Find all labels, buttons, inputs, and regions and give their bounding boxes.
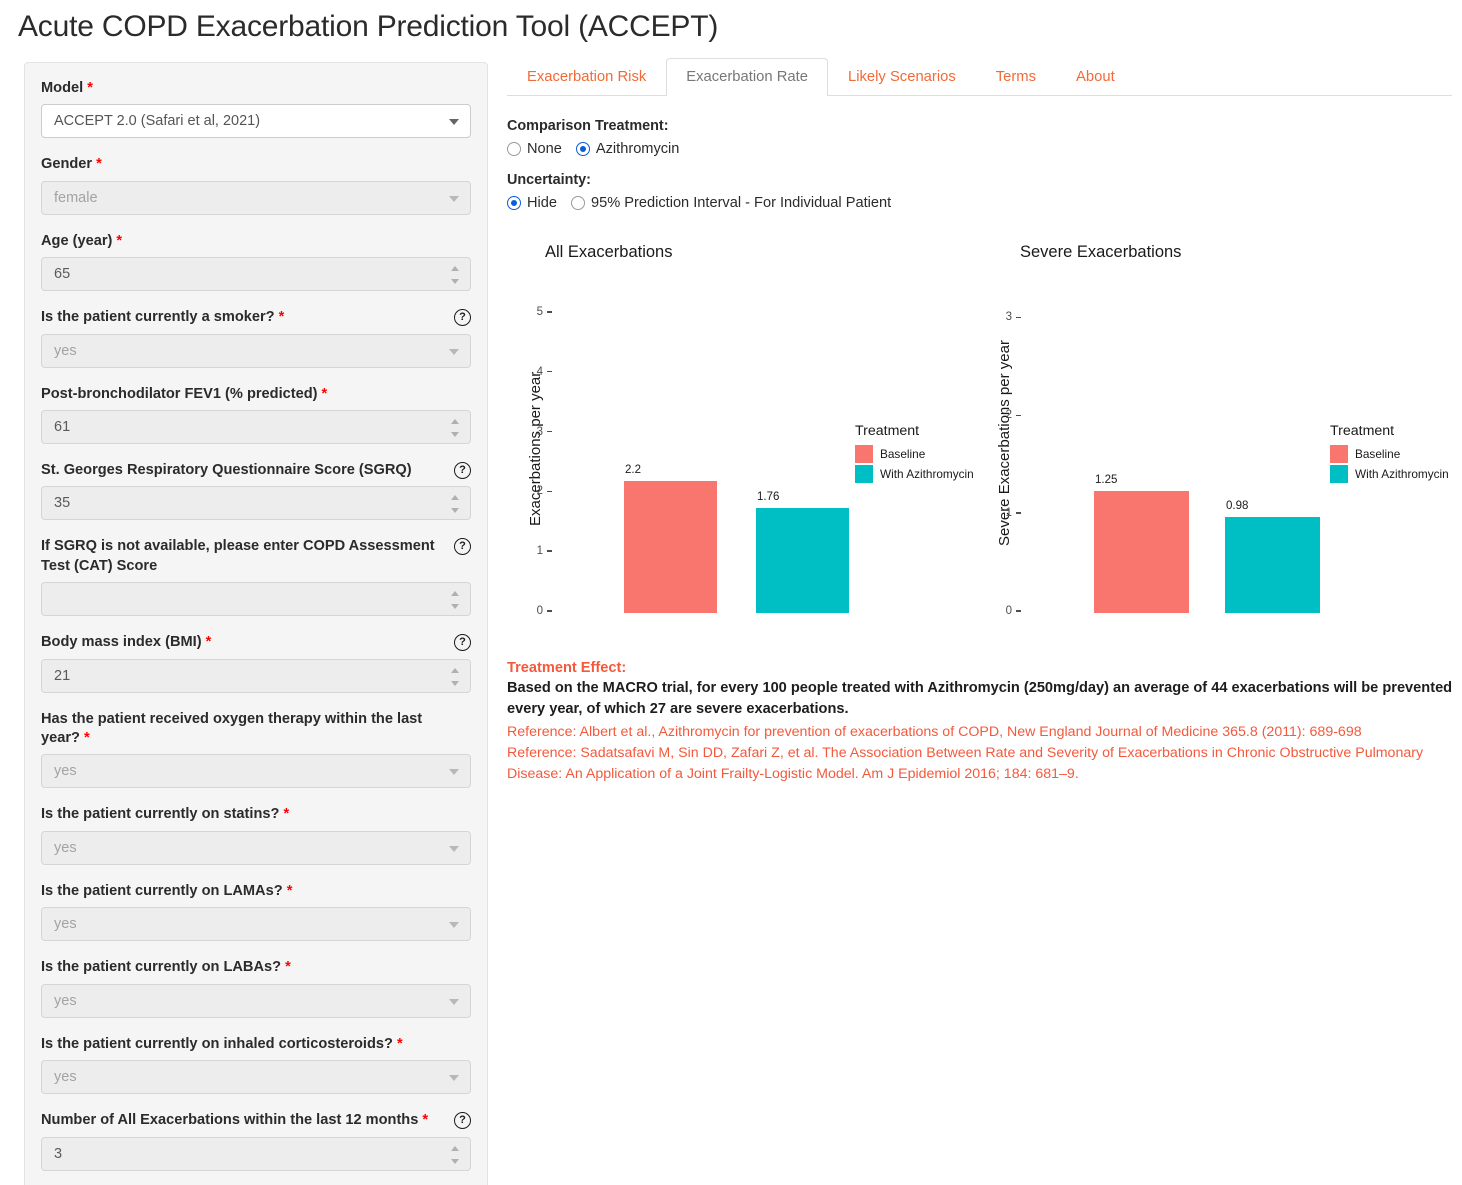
- y-axis-tick: 3: [994, 311, 1021, 323]
- y-axis-tick: 1: [525, 545, 552, 557]
- tab-likely-scenarios[interactable]: Likely Scenarios: [828, 58, 976, 96]
- chart-legend: TreatmentBaselineWith Azithromycin: [1330, 423, 1449, 485]
- form-group-post-bronchodilator-fev1-predicted: Post-bronchodilator FEV1 (% predicted) *…: [41, 385, 471, 444]
- required-asterisk: *: [281, 959, 291, 975]
- treatment-effect-heading: Treatment Effect:: [507, 660, 1457, 676]
- field-value: yes: [54, 343, 77, 359]
- select-is-the-patient-currently-on-lamas[interactable]: yes: [41, 907, 471, 941]
- radio-label: 95% Prediction Interval - For Individual…: [591, 195, 891, 211]
- radio-hide[interactable]: Hide: [507, 195, 557, 211]
- chevron-down-icon: [449, 349, 459, 355]
- bar-baseline: [1094, 491, 1189, 613]
- y-axis-tick-label: 0: [525, 605, 543, 617]
- number-input-st-georges-respiratory-questionnaire-score-sgr[interactable]: 35: [41, 486, 471, 520]
- input-form-panel: Model *ACCEPT 2.0 (Safari et al, 2021)Ge…: [24, 62, 488, 1185]
- form-group-is-the-patient-currently-on-lamas: Is the patient currently on LAMAs? *yes: [41, 882, 471, 941]
- stepper-up-icon[interactable]: [451, 419, 459, 424]
- bar-with-azithromycin: [1225, 517, 1320, 613]
- field-value: 65: [54, 266, 70, 282]
- select-has-the-patient-received-oxygen-therapy-within[interactable]: yes: [41, 754, 471, 788]
- y-axis-tick-label: 1: [994, 507, 1012, 519]
- y-axis-tick-label: 1: [525, 545, 543, 557]
- required-asterisk: *: [393, 1036, 403, 1052]
- legend-label: Baseline: [1355, 447, 1400, 461]
- stepper-down-icon[interactable]: [451, 681, 459, 686]
- form-group-is-the-patient-currently-on-labas: Is the patient currently on LABAs? *yes: [41, 958, 471, 1017]
- radio-unselected-icon[interactable]: [571, 196, 585, 210]
- y-axis-tick-label: 3: [525, 426, 543, 438]
- y-axis-tick-mark: [547, 550, 552, 551]
- field-label: Is the patient currently on LABAs? *: [41, 958, 471, 977]
- comparison-treatment-radio-group: NoneAzithromycin: [507, 141, 1452, 157]
- stepper-up-icon[interactable]: [451, 495, 459, 500]
- legend-item-baseline: Baseline: [855, 445, 974, 463]
- y-axis-tick: 2: [994, 409, 1021, 421]
- spinner-stepper[interactable]: [450, 495, 460, 513]
- y-axis-tick-mark: [547, 491, 552, 492]
- select-is-the-patient-currently-on-statins[interactable]: yes: [41, 831, 471, 865]
- radio-unselected-icon[interactable]: [507, 142, 521, 156]
- y-axis-tick-label: 2: [994, 409, 1012, 421]
- select-model[interactable]: ACCEPT 2.0 (Safari et al, 2021): [41, 104, 471, 138]
- chart-all-exacerbations: All ExacerbationsExacerbations per year0…: [507, 236, 982, 636]
- radio-label: None: [527, 141, 562, 157]
- spinner-stepper[interactable]: [450, 591, 460, 609]
- required-asterisk: *: [83, 80, 93, 96]
- stepper-down-icon[interactable]: [451, 508, 459, 513]
- spinner-stepper[interactable]: [450, 1146, 460, 1164]
- field-value: female: [54, 190, 98, 206]
- bar-value-label: 1.76: [757, 491, 779, 503]
- field-label: Is the patient currently on LAMAs? *: [41, 882, 471, 901]
- field-label: Post-bronchodilator FEV1 (% predicted) *: [41, 385, 471, 404]
- charts-container: All ExacerbationsExacerbations per year0…: [507, 236, 1457, 636]
- y-axis-tick: 2: [525, 485, 552, 497]
- y-axis-tick-mark: [1016, 610, 1021, 611]
- select-gender[interactable]: female: [41, 181, 471, 215]
- select-is-the-patient-currently-on-labas[interactable]: yes: [41, 984, 471, 1018]
- plot-options: Comparison Treatment: NoneAzithromycin U…: [507, 118, 1452, 226]
- field-value: yes: [54, 763, 77, 779]
- bar-value-label: 1.25: [1095, 474, 1117, 486]
- reference-albert: Reference: Albert et al., Azithromycin f…: [507, 722, 1457, 743]
- field-value: 21: [54, 668, 70, 684]
- chart-severe-exacerbations: Severe ExacerbationsSevere Exacerbations…: [982, 236, 1457, 636]
- form-group-gender: Gender *female: [41, 155, 471, 214]
- tab-about[interactable]: About: [1056, 58, 1135, 96]
- field-value: 3: [54, 1146, 62, 1162]
- number-input-body-mass-index-bmi[interactable]: 21: [41, 659, 471, 693]
- stepper-down-icon[interactable]: [451, 1159, 459, 1164]
- chevron-down-icon: [449, 769, 459, 775]
- field-label: St. Georges Respiratory Questionnaire Sc…: [41, 461, 471, 480]
- chevron-down-icon: [449, 119, 459, 125]
- form-group-is-the-patient-currently-on-statins: Is the patient currently on statins? *ye…: [41, 805, 471, 864]
- chevron-down-icon: [449, 196, 459, 202]
- stepper-up-icon[interactable]: [451, 266, 459, 271]
- required-asterisk: *: [418, 1112, 428, 1128]
- y-axis-tick-label: 2: [525, 485, 543, 497]
- y-axis-tick-mark: [547, 610, 552, 611]
- required-asterisk: *: [92, 156, 102, 172]
- legend-swatch: [1330, 445, 1348, 463]
- page-title: Acute COPD Exacerbation Prediction Tool …: [18, 10, 718, 44]
- field-value: yes: [54, 840, 77, 856]
- legend-item-with-azithromycin: With Azithromycin: [855, 465, 974, 483]
- y-axis-tick: 0: [525, 605, 552, 617]
- comparison-treatment-label: Comparison Treatment:: [507, 118, 1452, 134]
- spinner-stepper[interactable]: [450, 668, 460, 686]
- field-value: yes: [54, 993, 77, 1009]
- bar-with-azithromycin: [756, 508, 849, 613]
- field-label: Age (year) *: [41, 232, 471, 251]
- y-axis-tick-mark: [547, 311, 552, 312]
- required-asterisk: *: [80, 730, 90, 746]
- y-axis-tick: 0: [994, 605, 1021, 617]
- form-group-if-sgrq-is-not-available-please-enter-copd-ass: If SGRQ is not available, please enter C…: [41, 537, 471, 616]
- radio-selected-icon[interactable]: [507, 196, 521, 210]
- field-label: Is the patient currently on statins? *: [41, 805, 471, 824]
- form-group-model: Model *ACCEPT 2.0 (Safari et al, 2021): [41, 79, 471, 138]
- stepper-up-icon[interactable]: [451, 591, 459, 596]
- field-label: If SGRQ is not available, please enter C…: [41, 537, 471, 576]
- chevron-down-icon: [449, 846, 459, 852]
- field-label: Gender *: [41, 155, 471, 174]
- required-asterisk: *: [202, 634, 212, 650]
- y-axis-title: Exacerbations per year: [527, 372, 544, 526]
- field-value: yes: [54, 1069, 77, 1085]
- tab-bar: Exacerbation RiskExacerbation RateLikely…: [507, 58, 1452, 96]
- spinner-stepper[interactable]: [450, 419, 460, 437]
- radio-95-prediction-interval-for-individual-patient[interactable]: 95% Prediction Interval - For Individual…: [571, 195, 891, 211]
- required-asterisk: *: [318, 386, 328, 402]
- tab-exacerbation-risk[interactable]: Exacerbation Risk: [507, 58, 666, 96]
- stepper-down-icon[interactable]: [451, 604, 459, 609]
- radio-label: Hide: [527, 195, 557, 211]
- legend-label: With Azithromycin: [1355, 467, 1449, 481]
- form-group-number-of-all-exacerbations-within-the-last-12: Number of All Exacerbations within the l…: [41, 1111, 471, 1170]
- required-asterisk: *: [279, 806, 289, 822]
- form-group-body-mass-index-bmi: Body mass index (BMI) *?21: [41, 633, 471, 692]
- stepper-down-icon[interactable]: [451, 432, 459, 437]
- y-axis-tick-mark: [547, 371, 552, 372]
- field-value: ACCEPT 2.0 (Safari et al, 2021): [54, 113, 260, 129]
- chart-title: All Exacerbations: [545, 243, 672, 262]
- legend-label: Baseline: [880, 447, 925, 461]
- form-group-is-the-patient-currently-a-smoker: Is the patient currently a smoker? *?yes: [41, 308, 471, 367]
- y-axis-tick-mark: [1016, 317, 1021, 318]
- app-root: Acute COPD Exacerbation Prediction Tool …: [0, 0, 1462, 1185]
- chevron-down-icon: [449, 999, 459, 1005]
- number-input-if-sgrq-is-not-available-please-enter-copd-ass[interactable]: [41, 582, 471, 616]
- treatment-effect-body: Based on the MACRO trial, for every 100 …: [507, 678, 1457, 720]
- tab-exacerbation-rate[interactable]: Exacerbation Rate: [666, 58, 828, 96]
- legend-title: Treatment: [1330, 423, 1449, 439]
- number-input-number-of-all-exacerbations-within-the-last-12[interactable]: 3: [41, 1137, 471, 1171]
- y-axis-tick-mark: [547, 431, 552, 432]
- y-axis-tick-mark: [1016, 512, 1021, 513]
- y-axis-tick-mark: [1016, 415, 1021, 416]
- y-axis-tick-label: 4: [525, 366, 543, 378]
- bar-value-label: 2.2: [625, 464, 641, 476]
- treatment-effect-block: Treatment Effect: Based on the MACRO tri…: [507, 660, 1457, 784]
- field-value: yes: [54, 916, 77, 932]
- form-group-age-year: Age (year) *65: [41, 232, 471, 291]
- required-asterisk: *: [275, 309, 285, 325]
- stepper-down-icon[interactable]: [451, 279, 459, 284]
- legend-title: Treatment: [855, 423, 974, 439]
- field-label: Body mass index (BMI) *: [41, 633, 471, 652]
- help-circle-icon[interactable]: ?: [454, 462, 471, 479]
- form-group-st-georges-respiratory-questionnaire-score-sgr: St. Georges Respiratory Questionnaire Sc…: [41, 461, 471, 520]
- chevron-down-icon: [449, 1075, 459, 1081]
- field-value: 35: [54, 495, 70, 511]
- bar-baseline: [624, 481, 717, 613]
- field-label: Is the patient currently on inhaled cort…: [41, 1035, 471, 1054]
- legend-swatch: [1330, 465, 1348, 483]
- y-axis-tick-label: 3: [994, 311, 1012, 323]
- legend-label: With Azithromycin: [880, 467, 974, 481]
- number-input-age-year[interactable]: 65: [41, 257, 471, 291]
- help-circle-icon[interactable]: ?: [454, 1112, 471, 1129]
- radio-label: Azithromycin: [596, 141, 680, 157]
- y-axis-tick: 1: [994, 507, 1021, 519]
- field-label: Has the patient received oxygen therapy …: [41, 710, 471, 749]
- field-label: Number of All Exacerbations within the l…: [41, 1111, 471, 1130]
- field-label: Is the patient currently a smoker? *: [41, 308, 471, 327]
- radio-azithromycin[interactable]: Azithromycin: [576, 141, 680, 157]
- legend-item-baseline: Baseline: [1330, 445, 1449, 463]
- legend-item-with-azithromycin: With Azithromycin: [1330, 465, 1449, 483]
- bar-value-label: 0.98: [1226, 500, 1248, 512]
- field-value: 61: [54, 419, 70, 435]
- select-is-the-patient-currently-on-inhaled-corticoste[interactable]: yes: [41, 1060, 471, 1094]
- uncertainty-label: Uncertainty:: [507, 172, 1452, 188]
- y-axis-tick-label: 5: [525, 306, 543, 318]
- chart-title: Severe Exacerbations: [1020, 243, 1181, 262]
- uncertainty-radio-group: Hide95% Prediction Interval - For Indivi…: [507, 195, 1452, 211]
- number-input-post-bronchodilator-fev1-predicted[interactable]: 61: [41, 410, 471, 444]
- legend-swatch: [855, 465, 873, 483]
- y-axis-tick: 4: [525, 366, 552, 378]
- select-is-the-patient-currently-a-smoker[interactable]: yes: [41, 334, 471, 368]
- y-axis-tick: 3: [525, 426, 552, 438]
- stepper-up-icon[interactable]: [451, 1146, 459, 1151]
- required-asterisk: *: [112, 233, 122, 249]
- radio-none[interactable]: None: [507, 141, 562, 157]
- y-axis-tick: 5: [525, 306, 552, 318]
- tab-terms[interactable]: Terms: [976, 58, 1056, 96]
- legend-swatch: [855, 445, 873, 463]
- spinner-stepper[interactable]: [450, 266, 460, 284]
- field-label: Model *: [41, 79, 471, 98]
- form-group-has-the-patient-received-oxygen-therapy-within: Has the patient received oxygen therapy …: [41, 710, 471, 789]
- required-asterisk: *: [283, 883, 293, 899]
- radio-selected-icon[interactable]: [576, 142, 590, 156]
- reference-sadatsafavi: Reference: Sadatsafavi M, Sin DD, Zafari…: [507, 743, 1457, 784]
- y-axis-tick-label: 0: [994, 605, 1012, 617]
- chart-legend: TreatmentBaselineWith Azithromycin: [855, 423, 974, 485]
- tab-divider: [507, 95, 1452, 96]
- stepper-up-icon[interactable]: [451, 668, 459, 673]
- form-group-is-the-patient-currently-on-inhaled-corticoste: Is the patient currently on inhaled cort…: [41, 1035, 471, 1094]
- chevron-down-icon: [449, 922, 459, 928]
